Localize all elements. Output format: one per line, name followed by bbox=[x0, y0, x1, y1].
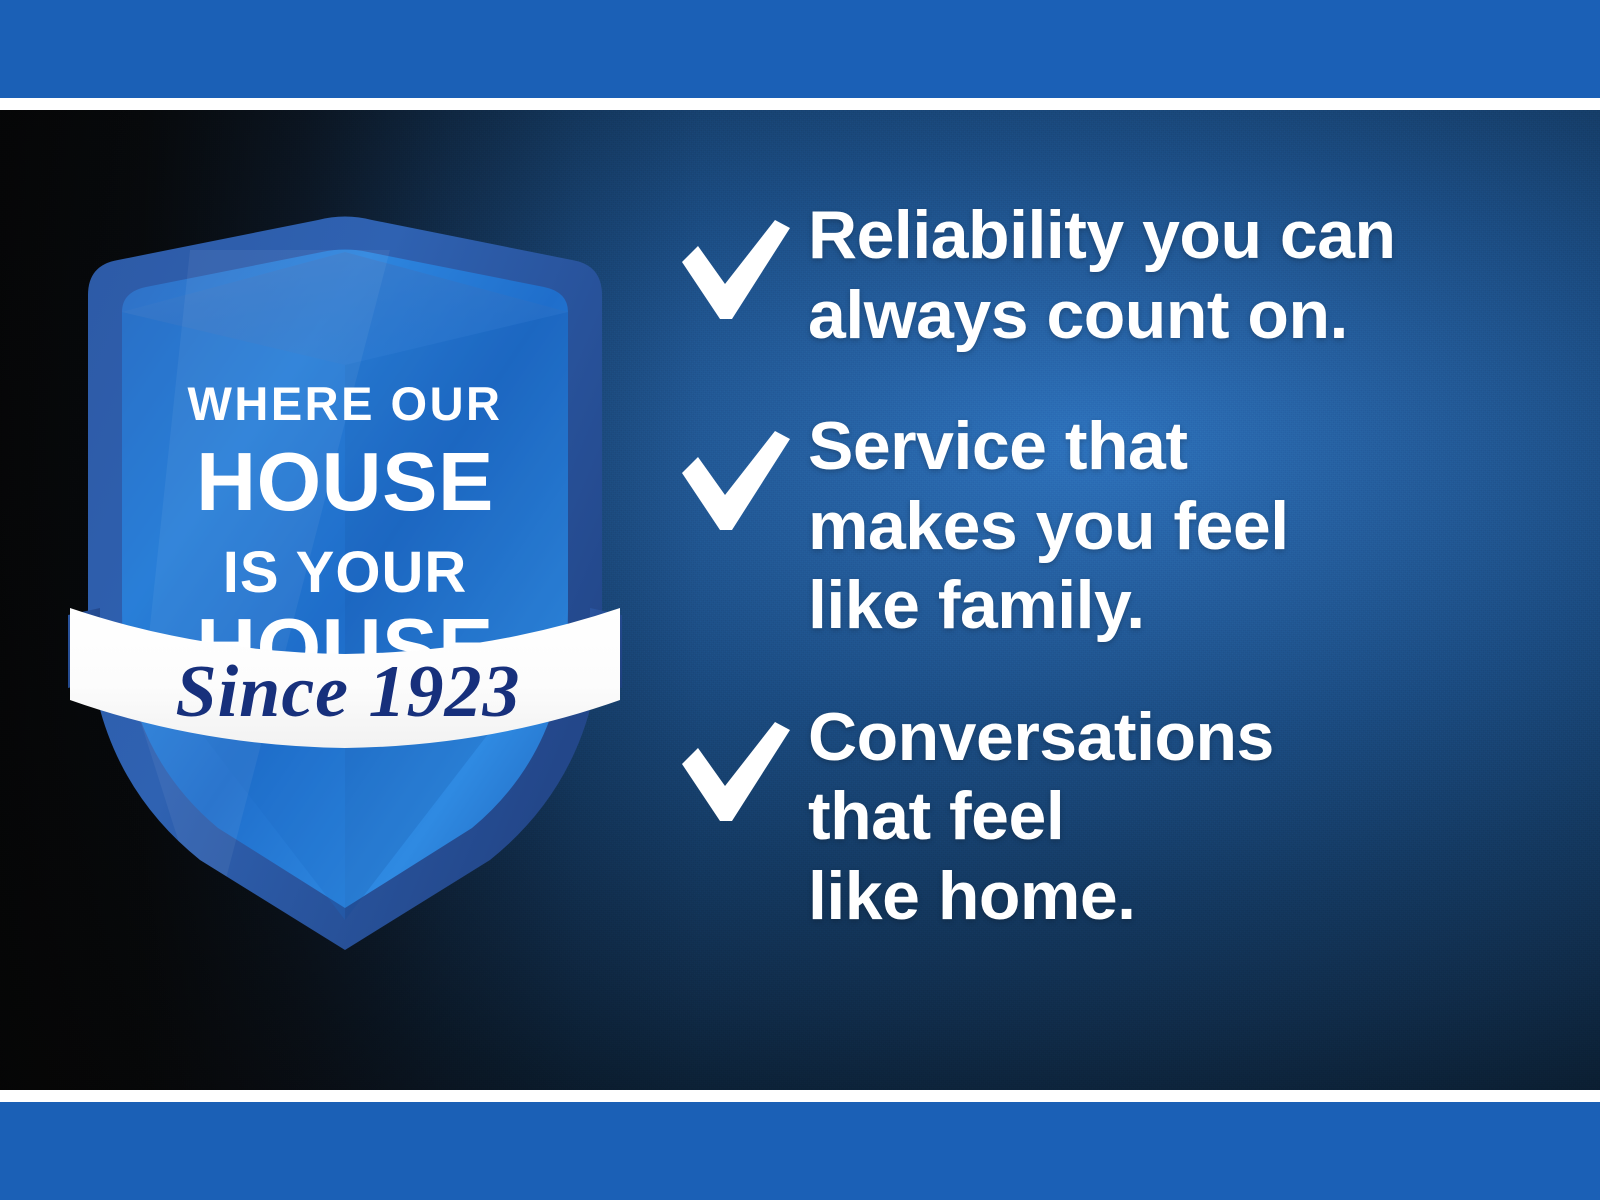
checkmark-wrap bbox=[676, 698, 808, 828]
benefit-item: Conversations that feel like home. bbox=[676, 698, 1556, 937]
shield-line-1: WHERE OUR bbox=[188, 377, 503, 430]
benefit-text: Conversations that feel like home. bbox=[808, 698, 1556, 937]
checkmark-wrap bbox=[676, 407, 808, 537]
benefit-text: Reliability you can always count on. bbox=[808, 196, 1556, 355]
shield-line-3: IS YOUR bbox=[223, 540, 467, 605]
shield-line-2: HOUSE bbox=[196, 435, 494, 528]
checkmark-icon bbox=[676, 716, 794, 828]
shield-badge: WHERE OUR HOUSE IS YOUR HOUSE Since 1923 bbox=[60, 160, 630, 960]
benefits-list: Reliability you can always count on. Ser… bbox=[676, 196, 1556, 936]
benefit-text: Service that makes you feel like family. bbox=[808, 407, 1556, 646]
brand-bar-top bbox=[0, 0, 1600, 98]
checkmark-icon bbox=[676, 214, 794, 326]
brand-bar-bottom bbox=[0, 1102, 1600, 1200]
ribbon-label: Since 1923 bbox=[175, 651, 520, 733]
promo-graphic: WHERE OUR HOUSE IS YOUR HOUSE Since 1923 bbox=[0, 0, 1600, 1200]
checkmark-icon bbox=[676, 425, 794, 537]
benefit-item: Service that makes you feel like family. bbox=[676, 407, 1556, 646]
shield-badge-graphic: WHERE OUR HOUSE IS YOUR HOUSE Since 1923 bbox=[60, 160, 630, 960]
benefit-item: Reliability you can always count on. bbox=[676, 196, 1556, 355]
checkmark-wrap bbox=[676, 196, 808, 326]
